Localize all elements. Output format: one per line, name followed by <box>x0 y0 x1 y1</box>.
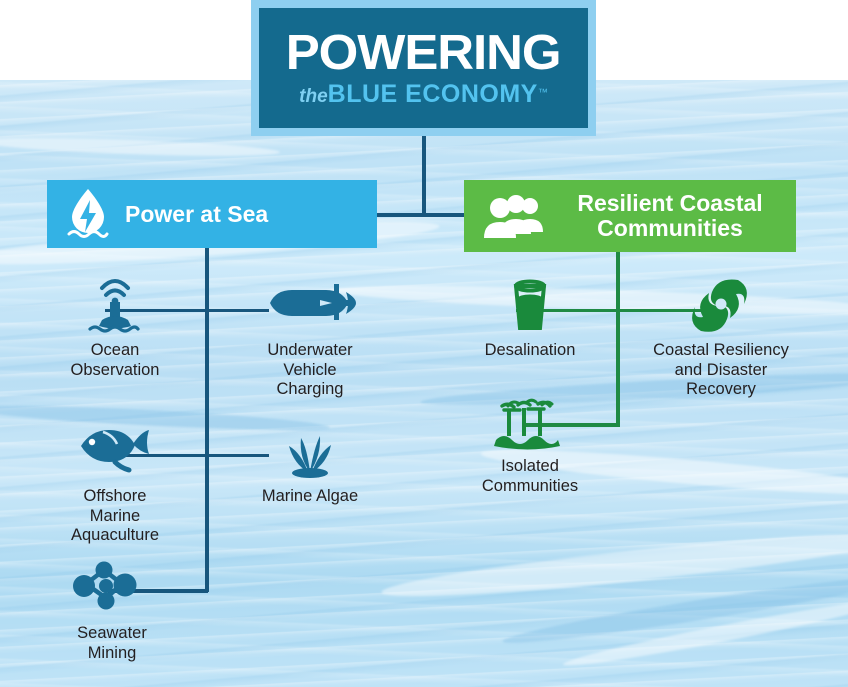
seaweed-kelp-icon <box>240 418 380 480</box>
page-title: POWERING <box>286 28 561 78</box>
fish-icon <box>45 418 185 480</box>
buoy-signal-icon <box>45 272 185 334</box>
water-glass-icon <box>460 272 600 334</box>
node-marine-algae[interactable]: Marine Algae <box>240 418 380 507</box>
category-label: Power at Sea <box>125 202 268 227</box>
category-power-at-sea[interactable]: Power at Sea <box>47 180 377 248</box>
node-desalination[interactable]: Desalination <box>460 272 600 361</box>
three-people-icon <box>486 194 546 238</box>
water-swoosh <box>0 135 280 159</box>
node-label: Marine Algae <box>240 487 380 507</box>
node-ocean-observation[interactable]: Ocean Observation <box>45 272 185 380</box>
node-seawater-mining[interactable]: Seawater Mining <box>42 555 182 663</box>
node-label: Offshore Marine Aquaculture <box>45 487 185 546</box>
node-label: Underwater Vehicle Charging <box>240 341 380 400</box>
node-label: Desalination <box>460 341 600 361</box>
node-label: Seawater Mining <box>42 624 182 663</box>
infographic-canvas: POWERING theBLUE ECONOMY™ Power at Sea <box>0 0 848 687</box>
water-drop-lightning-icon <box>65 187 111 241</box>
connector-green-spine <box>616 252 620 426</box>
node-underwater-vehicle-charging[interactable]: Underwater Vehicle Charging <box>240 272 380 400</box>
hurricane-icon <box>640 272 802 334</box>
stilt-houses-icon <box>455 388 605 450</box>
node-label: Isolated Communities <box>455 457 605 496</box>
subtitle: theBLUE ECONOMY™ <box>299 80 548 109</box>
node-label: Ocean Observation <box>45 341 185 380</box>
title-block: POWERING theBLUE ECONOMY™ <box>251 0 596 136</box>
subtitle-blue-economy: BLUE ECONOMY <box>328 80 538 108</box>
submarine-auv-icon <box>240 272 380 334</box>
title-inner-panel: POWERING theBLUE ECONOMY™ <box>259 8 588 128</box>
subtitle-the: the <box>299 86 328 107</box>
node-label: Coastal Resiliency and Disaster Recovery <box>640 341 802 400</box>
node-isolated-communities[interactable]: Isolated Communities <box>455 388 605 496</box>
category-resilient-coastal-communities[interactable]: Resilient Coastal Communities <box>464 180 796 252</box>
connector-title-horizontal <box>377 213 470 217</box>
trademark-mark: ™ <box>538 87 548 98</box>
category-label: Resilient Coastal Communities <box>554 191 796 241</box>
node-offshore-marine-aquaculture[interactable]: Offshore Marine Aquaculture <box>45 418 185 546</box>
molecule-nodes-icon <box>42 555 182 617</box>
connector-title-down <box>422 136 426 217</box>
connector-blue-spine <box>205 248 209 592</box>
node-coastal-resiliency-and-disaster-recovery[interactable]: Coastal Resiliency and Disaster Recovery <box>640 272 802 400</box>
